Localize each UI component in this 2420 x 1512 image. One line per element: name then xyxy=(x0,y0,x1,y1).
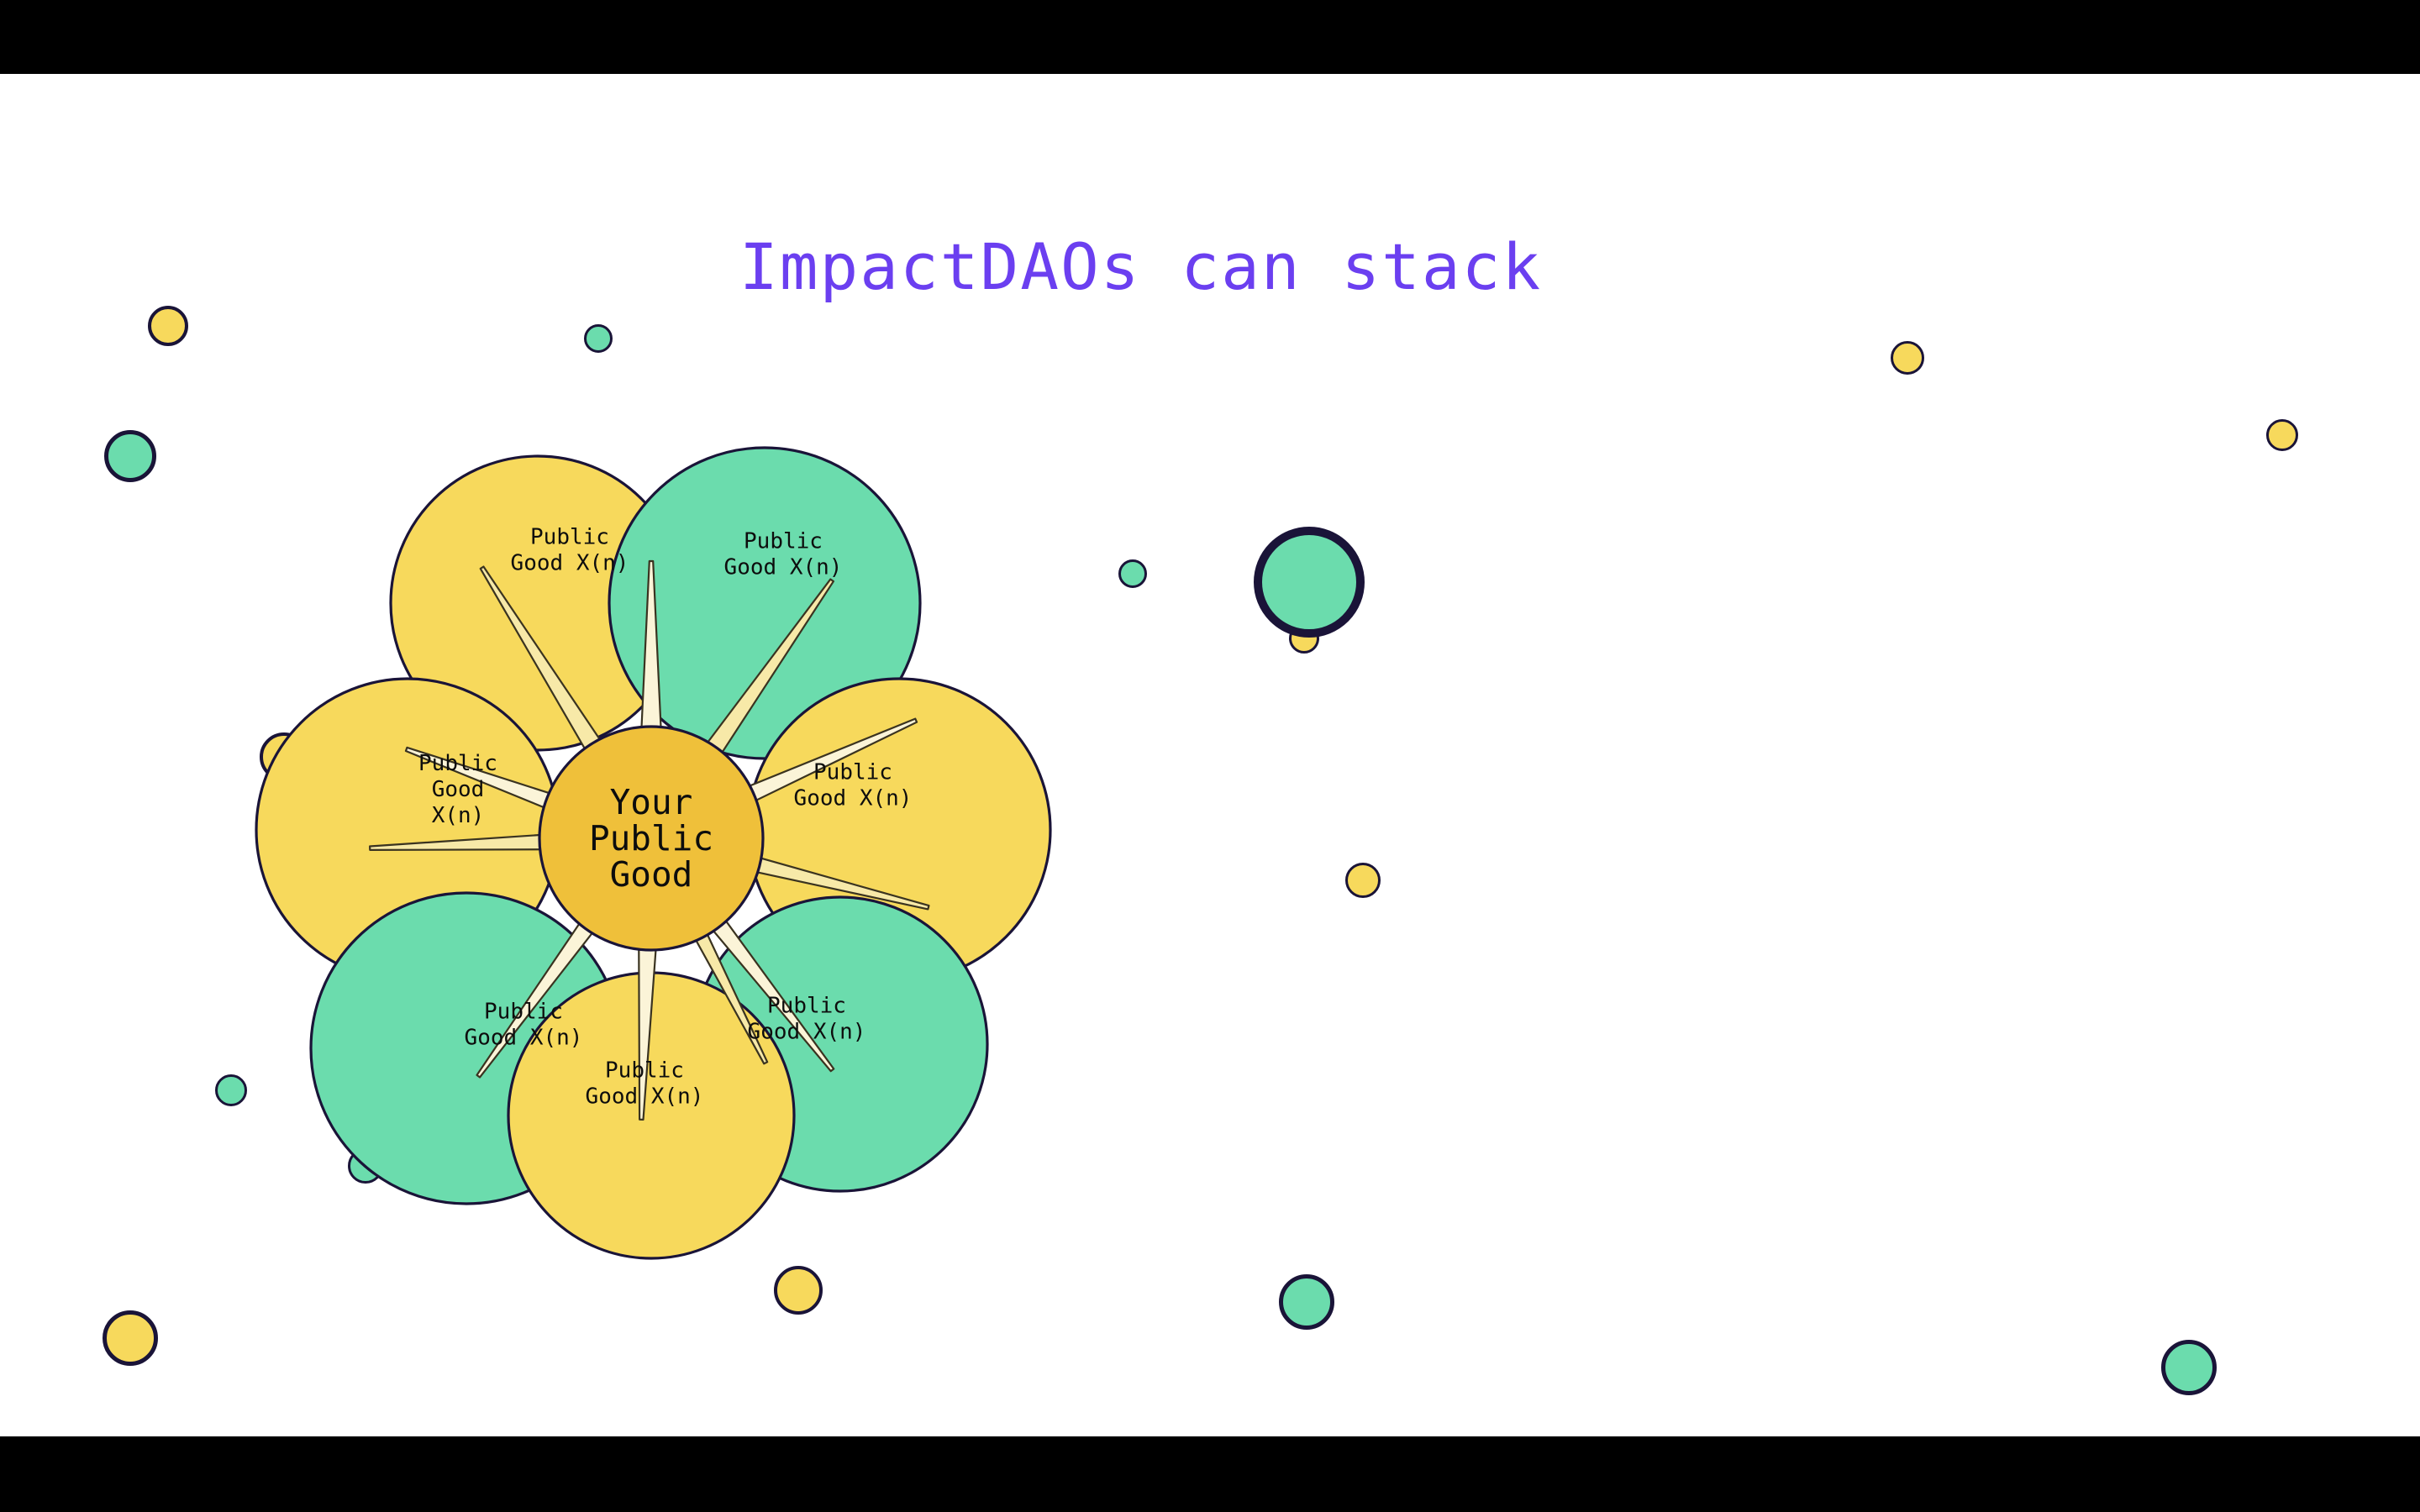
public-goods-flower-diagram: PublicGood X(n)PublicGood X(n)PublicGood… xyxy=(235,410,1076,1250)
decorative-dot xyxy=(2266,419,2298,451)
slide-canvas: ImpactDAOs can stack PublicGood X(n)Publ… xyxy=(0,0,2420,1512)
flower-svg: PublicGood X(n)PublicGood X(n)PublicGood… xyxy=(235,410,1076,1250)
slide-title: ImpactDAOs can stack xyxy=(739,229,1832,304)
letterbox-top-bar xyxy=(0,0,2420,74)
letterbox-bottom-bar xyxy=(0,1436,2420,1512)
core-circle-group: YourPublicGood xyxy=(539,727,763,950)
decorative-dot xyxy=(2161,1340,2217,1395)
decorative-dot xyxy=(1891,341,1924,375)
decorative-dot xyxy=(774,1266,823,1315)
decorative-dot xyxy=(1345,863,1381,898)
decorative-dot xyxy=(1254,527,1365,638)
decorative-dot xyxy=(104,430,156,482)
decorative-dot xyxy=(103,1310,158,1366)
slide-content: ImpactDAOs can stack PublicGood X(n)Publ… xyxy=(0,74,2420,1436)
decorative-dot xyxy=(1118,559,1147,588)
decorative-dot xyxy=(584,324,613,353)
decorative-dot xyxy=(1279,1274,1334,1330)
decorative-dot xyxy=(148,306,188,346)
